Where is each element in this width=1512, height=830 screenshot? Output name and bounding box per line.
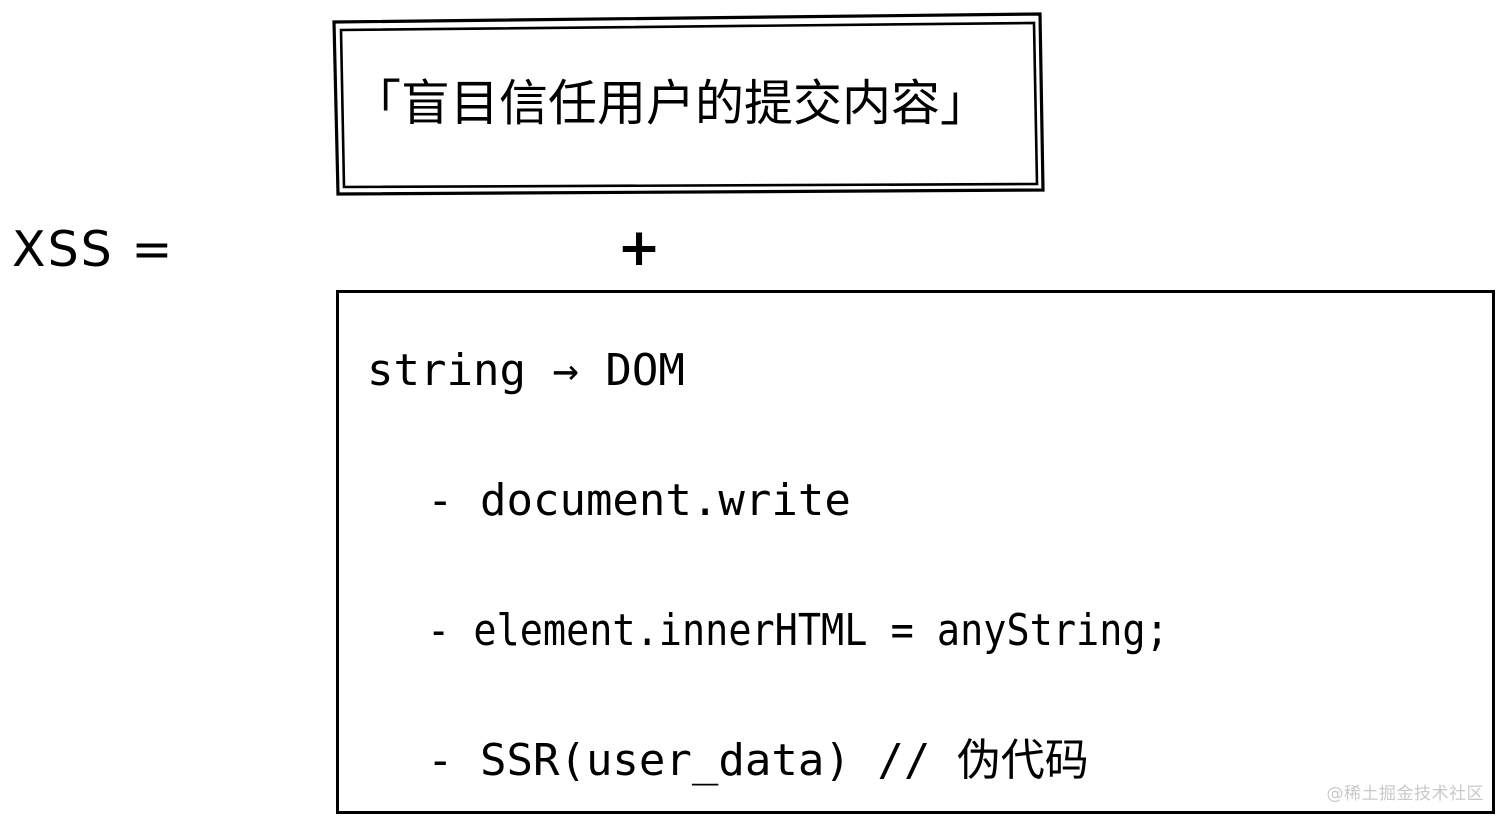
sink-line-item: - SSR(user_data) // 伪代码 [427, 735, 1089, 787]
sink-line-item: - document.write [427, 475, 851, 527]
sink-line-list: string → DOM - document.write - element.… [339, 293, 1492, 811]
sink-box: string → DOM - document.write - element.… [336, 290, 1495, 814]
condition-box-text: 「盲目信任用户的提交内容」 [352, 74, 1032, 134]
sink-line-heading: string → DOM [367, 345, 685, 397]
watermark: @稀土掘金技术社区 [1327, 783, 1485, 805]
sink-line-item: - element.innerHTML = anyString; [427, 605, 1169, 657]
plus-operator: + [615, 216, 663, 280]
diagram-canvas: XSS = + 「盲目信任用户的提交内容」 string → DOM - doc… [0, 0, 1512, 830]
condition-box: 「盲目信任用户的提交内容」 [330, 12, 1046, 196]
formula-left-label: XSS = [12, 218, 174, 282]
